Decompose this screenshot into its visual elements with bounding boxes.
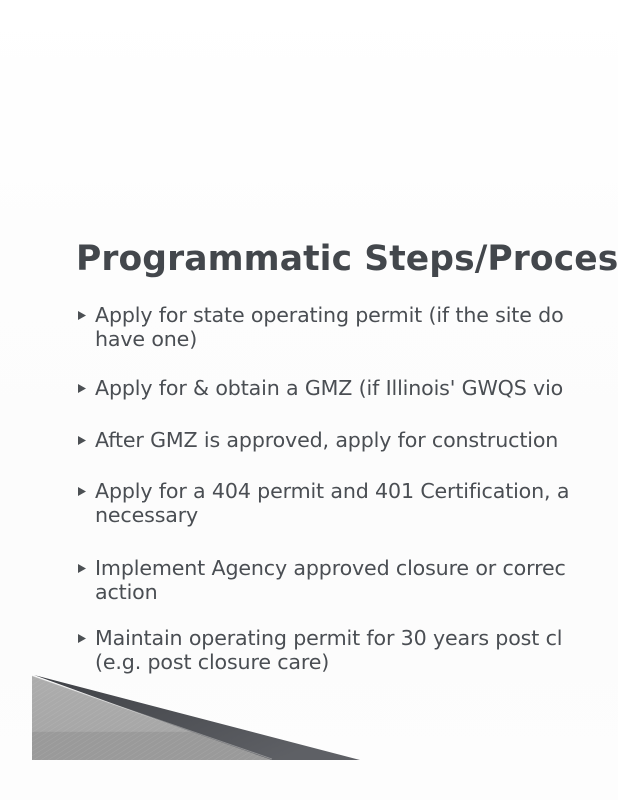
triangle-right-icon: [78, 479, 95, 496]
triangle-right-icon: [78, 303, 95, 320]
list-item: Apply for state operating permit (if the…: [78, 303, 618, 352]
slide-content: Programmatic Steps/Process Apply for sta…: [0, 0, 618, 800]
list-item: Apply for & obtain a GMZ (if Illinois' G…: [78, 376, 618, 400]
list-item: Apply for a 404 permit and 401 Certifica…: [78, 479, 618, 528]
list-item-text: Apply for & obtain a GMZ (if Illinois' G…: [95, 376, 618, 400]
list-item: Maintain operating permit for 30 years p…: [78, 626, 618, 675]
list-item-text: Apply for state operating permit (if the…: [95, 303, 618, 352]
triangle-right-icon: [78, 428, 95, 445]
list-item: Implement Agency approved closure or cor…: [78, 556, 618, 605]
list-item-text: After GMZ is approved, apply for constru…: [95, 428, 618, 452]
list-item: After GMZ is approved, apply for constru…: [78, 428, 618, 452]
gray-wedge-graphic: [30, 672, 370, 764]
triangle-right-icon: [78, 626, 95, 643]
triangle-right-icon: [78, 376, 95, 393]
list-item-text: Maintain operating permit for 30 years p…: [95, 626, 618, 675]
page-title: Programmatic Steps/Process: [76, 241, 618, 277]
triangle-right-icon: [78, 556, 95, 573]
slide-page: Programmatic Steps/Process Apply for sta…: [0, 0, 618, 800]
list-item-text: Apply for a 404 permit and 401 Certifica…: [95, 479, 618, 528]
list-item-text: Implement Agency approved closure or cor…: [95, 556, 618, 605]
